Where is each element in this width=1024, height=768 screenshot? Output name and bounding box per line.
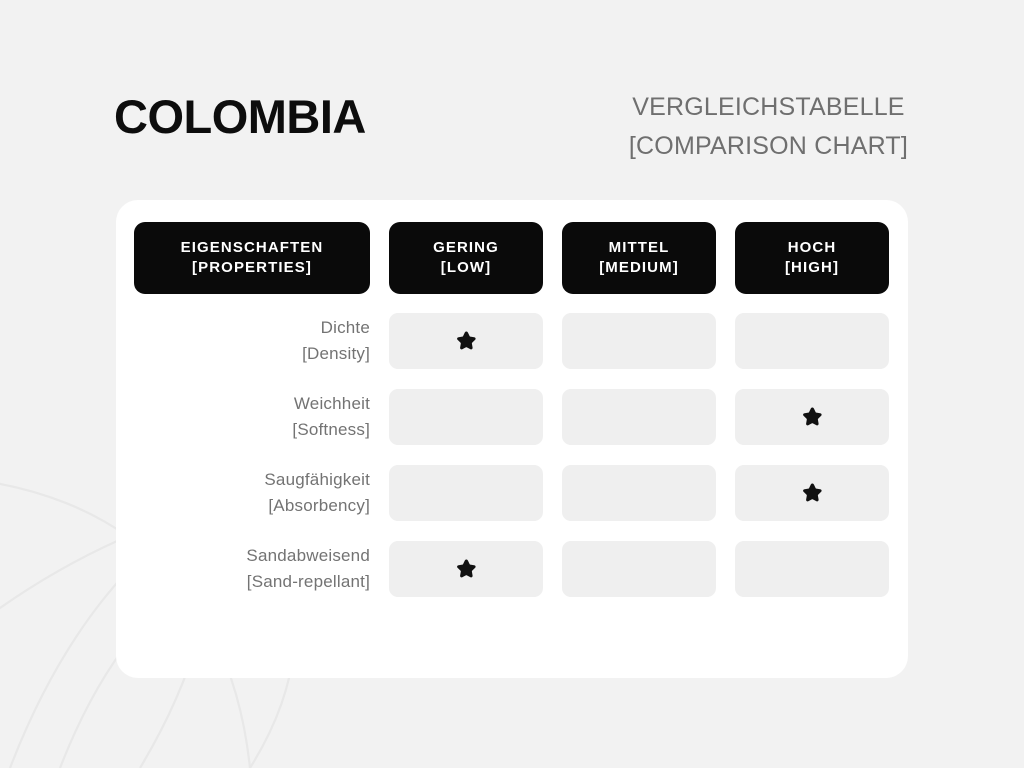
column-header-high-line2: [HIGH] [785,258,839,278]
column-header-properties-line1: EIGENSCHAFTEN [181,238,324,258]
table-header-row: EIGENSCHAFTEN [PROPERTIES] GERING [LOW] … [134,222,890,294]
column-header-properties-line2: [PROPERTIES] [192,258,312,278]
cell-softness-low[interactable] [389,389,543,445]
cell-softness-medium[interactable] [562,389,716,445]
subtitle-line-1: VERGLEICHSTABELLE [629,88,908,127]
row-label-sand-repellant-line2: [Sand-repellant] [247,569,370,595]
star-icon [801,406,824,429]
column-header-properties: EIGENSCHAFTEN [PROPERTIES] [134,222,370,294]
comparison-card: EIGENSCHAFTEN [PROPERTIES] GERING [LOW] … [116,200,908,678]
star-icon [455,330,478,353]
subtitle-line-2: [COMPARISON CHART] [629,127,908,166]
star-icon [455,558,478,581]
column-header-low-line2: [LOW] [441,258,491,278]
cell-density-low[interactable] [389,313,543,369]
column-header-high: HOCH [HIGH] [735,222,889,294]
row-label-softness-line2: [Softness] [292,417,370,443]
table-row: Weichheit [Softness] [134,389,890,445]
row-label-absorbency-line2: [Absorbency] [268,493,370,519]
column-header-medium-line1: MITTEL [609,238,670,258]
cell-absorbency-high[interactable] [735,465,889,521]
cell-sand-repellant-low[interactable] [389,541,543,597]
page-title: COLOMBIA [114,93,366,140]
cell-absorbency-low[interactable] [389,465,543,521]
row-label-density-line2: [Density] [302,341,370,367]
row-label-absorbency: Saugfähigkeit [Absorbency] [134,465,370,521]
row-label-absorbency-line1: Saugfähigkeit [264,467,370,493]
row-label-softness: Weichheit [Softness] [134,389,370,445]
page-subtitle: VERGLEICHSTABELLE [COMPARISON CHART] [629,88,908,166]
row-label-sand-repellant: Sandabweisend [Sand-repellant] [134,541,370,597]
table-row: Sandabweisend [Sand-repellant] [134,541,890,597]
row-label-density: Dichte [Density] [134,313,370,369]
row-label-density-line1: Dichte [321,315,370,341]
column-header-low: GERING [LOW] [389,222,543,294]
page-header: COLOMBIA VERGLEICHSTABELLE [COMPARISON C… [0,0,1024,200]
column-header-medium: MITTEL [MEDIUM] [562,222,716,294]
cell-sand-repellant-medium[interactable] [562,541,716,597]
cell-absorbency-medium[interactable] [562,465,716,521]
column-header-medium-line2: [MEDIUM] [599,258,679,278]
cell-softness-high[interactable] [735,389,889,445]
cell-sand-repellant-high[interactable] [735,541,889,597]
cell-density-medium[interactable] [562,313,716,369]
column-header-high-line1: HOCH [788,238,837,258]
row-label-softness-line1: Weichheit [294,391,370,417]
row-label-sand-repellant-line1: Sandabweisend [246,543,370,569]
column-header-low-line1: GERING [433,238,499,258]
table-row: Saugfähigkeit [Absorbency] [134,465,890,521]
comparison-table: EIGENSCHAFTEN [PROPERTIES] GERING [LOW] … [134,222,890,617]
star-icon [801,482,824,505]
table-row: Dichte [Density] [134,313,890,369]
cell-density-high[interactable] [735,313,889,369]
